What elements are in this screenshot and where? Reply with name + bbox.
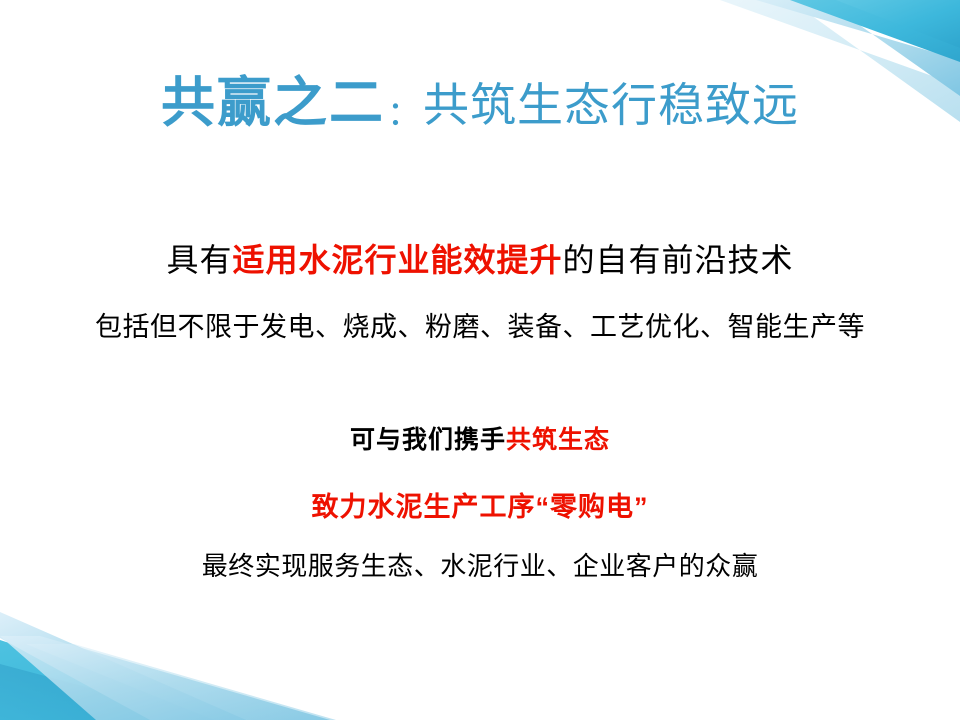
slide-title-sub: 共筑生态行稳致远 xyxy=(423,78,799,132)
tech-suffix-text: 的自有前沿技术 xyxy=(563,242,794,278)
content-line-technology: 具有适用水泥行业能效提升的自有前沿技术 xyxy=(0,235,960,281)
ribbon-bottom-teal xyxy=(0,640,246,720)
content-line-zero-power: 致力水泥生产工序“零购电” xyxy=(0,485,960,524)
ribbon-bottom-deep xyxy=(0,664,210,720)
presentation-slide: 共赢之二：共筑生态行稳致远 具有适用水泥行业能效提升的自有前沿技术 包括但不限于… xyxy=(0,0,960,720)
ribbon-bottom-light-2 xyxy=(0,636,330,720)
ribbon-bottom-pale xyxy=(26,644,336,720)
scope-text: 包括但不限于发电、烧成、粉磨、装备、工艺优化、智能生产等 xyxy=(95,312,865,342)
ribbon-top-teal xyxy=(790,0,960,62)
content-line-scope: 包括但不限于发电、烧成、粉磨、装备、工艺优化、智能生产等 xyxy=(0,305,960,344)
tech-highlight-text: 适用水泥行业能效提升 xyxy=(232,242,562,278)
slide-title: 共赢之二：共筑生态行稳致远 xyxy=(0,58,960,137)
content-line-winwin: 最终实现服务生态、水泥行业、企业客户的众赢 xyxy=(0,546,960,583)
content-line-partnership: 可与我们携手共筑生态 xyxy=(0,420,960,456)
ribbon-top-teal-2 xyxy=(836,0,960,48)
partner-prefix-text: 可与我们携手 xyxy=(350,426,506,454)
winwin-text: 最终实现服务生态、水泥行业、企业客户的众赢 xyxy=(202,551,759,581)
partner-highlight-text: 共筑生态 xyxy=(506,426,610,454)
ribbon-bottom-light xyxy=(0,612,246,720)
tech-prefix-text: 具有 xyxy=(166,242,232,278)
slide-title-separator: ： xyxy=(385,94,423,134)
zero-power-text: 致力水泥生产工序“零购电” xyxy=(312,492,649,522)
slide-title-main: 共赢之二 xyxy=(161,70,385,134)
